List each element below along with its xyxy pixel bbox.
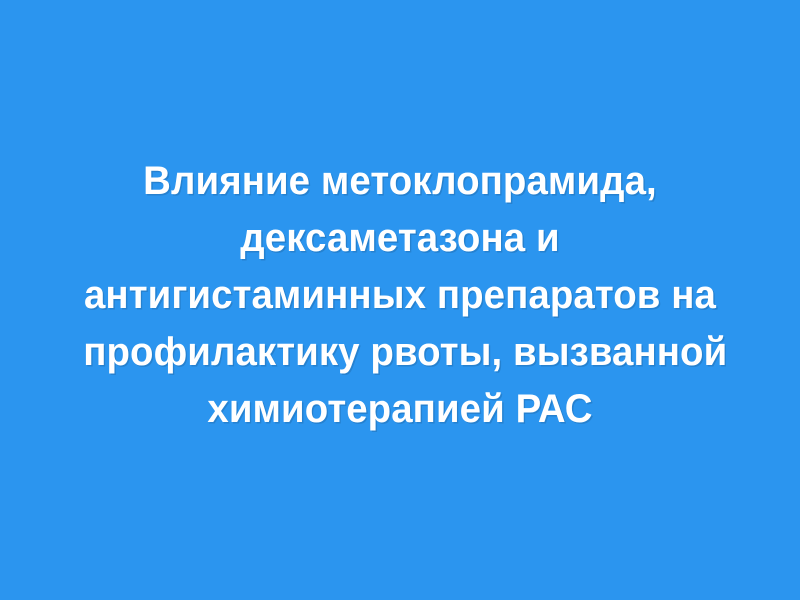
title-line-3: антигистаминных препаратов на	[83, 267, 717, 324]
title-line-5: химиотерапией РАС	[83, 381, 717, 438]
title-line-4: профилактику рвоты, вызванной	[83, 324, 717, 381]
page-title: Влияние метоклопрамида, дексаметазона и …	[70, 153, 730, 438]
title-line-1: Влияние метоклопрамида,	[83, 153, 717, 210]
title-card: Влияние метоклопрамида, дексаметазона и …	[0, 0, 800, 600]
title-line-2: дексаметазона и	[83, 210, 717, 267]
